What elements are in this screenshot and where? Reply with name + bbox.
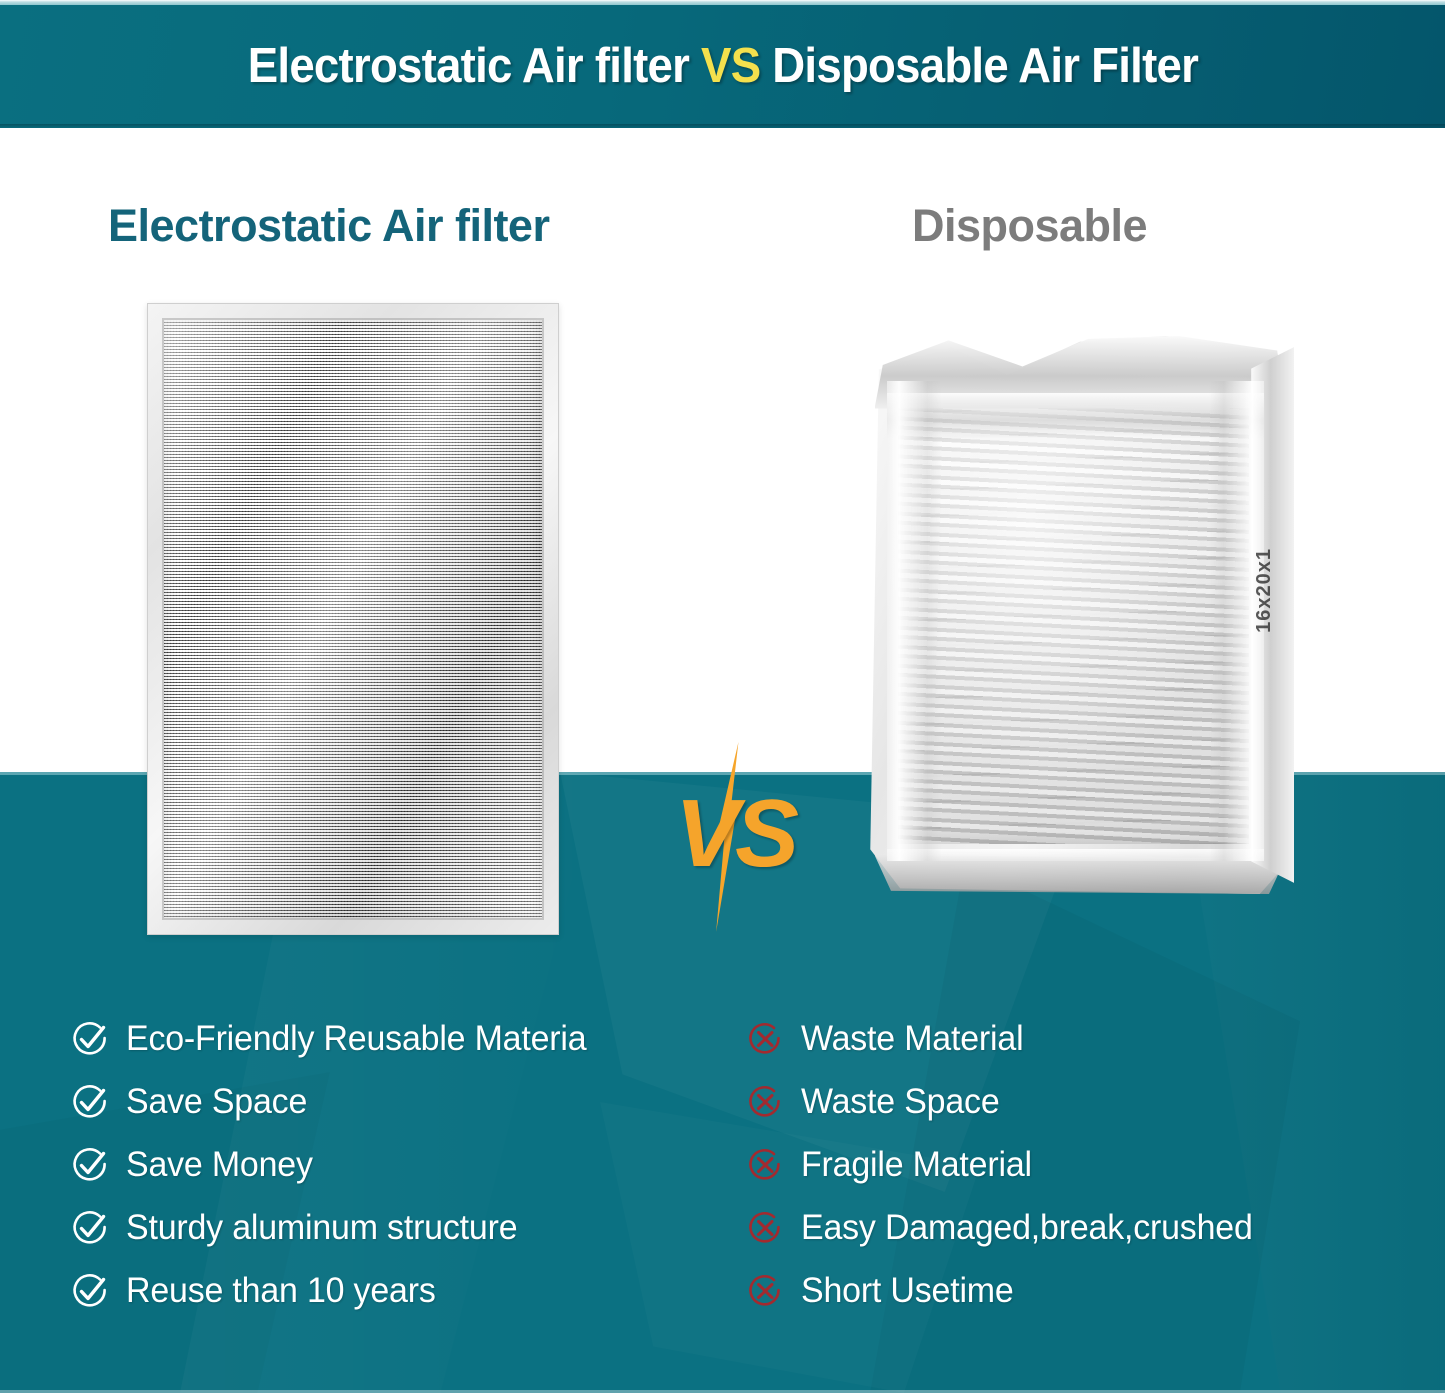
list-item-label: Sturdy aluminum structure bbox=[126, 1208, 517, 1248]
list-item: Save Space bbox=[70, 1070, 730, 1133]
list-item: Sturdy aluminum structure bbox=[70, 1196, 730, 1259]
check-circle-icon bbox=[70, 1271, 126, 1311]
infographic-page: Electrostatic Air filter VS Disposable A… bbox=[0, 0, 1445, 1393]
list-item-label: Easy Damaged,break,crushed bbox=[801, 1208, 1253, 1248]
vs-badge-label: VS bbox=[650, 786, 820, 882]
check-circle-icon bbox=[70, 1019, 126, 1059]
list-item-label: Fragile Material bbox=[801, 1145, 1032, 1185]
list-item-label: Short Usetime bbox=[801, 1271, 1014, 1311]
column-heading-electrostatic: Electrostatic Air filter bbox=[108, 203, 549, 248]
disposable-filter-bottom-fold bbox=[875, 855, 1286, 894]
cross-circle-icon bbox=[745, 1208, 801, 1248]
list-item: Waste Space bbox=[745, 1070, 1405, 1133]
list-item-label: Save Money bbox=[126, 1145, 313, 1185]
list-item: Reuse than 10 years bbox=[70, 1259, 730, 1322]
list-item-label: Waste Space bbox=[801, 1082, 1000, 1122]
list-item-label: Reuse than 10 years bbox=[126, 1271, 436, 1311]
list-item: Fragile Material bbox=[745, 1133, 1405, 1196]
cross-circle-icon bbox=[745, 1271, 801, 1311]
page-title-part2: Disposable Air Filter bbox=[760, 39, 1198, 93]
cons-list: Waste Material Waste Space Fragile Mater… bbox=[745, 1007, 1405, 1322]
filter-mesh-texture bbox=[164, 320, 542, 918]
column-heading-disposable: Disposable bbox=[912, 203, 1147, 248]
check-circle-icon bbox=[70, 1145, 126, 1185]
list-item: Waste Material bbox=[745, 1007, 1405, 1070]
cross-circle-icon bbox=[745, 1145, 801, 1185]
list-item-label: Waste Material bbox=[801, 1019, 1023, 1059]
electrostatic-filter-image bbox=[147, 303, 559, 935]
pros-list: Eco-Friendly Reusable Materia Save Space… bbox=[70, 1007, 730, 1322]
list-item: Easy Damaged,break,crushed bbox=[745, 1196, 1405, 1259]
vs-badge: VS bbox=[650, 742, 820, 932]
list-item-label: Eco-Friendly Reusable Materia bbox=[126, 1019, 586, 1059]
header-banner: Electrostatic Air filter VS Disposable A… bbox=[0, 5, 1445, 128]
list-item: Eco-Friendly Reusable Materia bbox=[70, 1007, 730, 1070]
disposable-filter-top-fold bbox=[875, 336, 1286, 409]
page-title: Electrostatic Air filter VS Disposable A… bbox=[247, 42, 1197, 91]
disposable-filter-image: 16x20x1 bbox=[866, 336, 1294, 894]
check-circle-icon bbox=[70, 1082, 126, 1122]
list-item: Short Usetime bbox=[745, 1259, 1405, 1322]
list-item-label: Save Space bbox=[126, 1082, 307, 1122]
page-title-part1: Electrostatic Air filter bbox=[247, 39, 700, 93]
cross-circle-icon bbox=[745, 1019, 801, 1059]
disposable-filter-fiber-media bbox=[898, 397, 1249, 843]
list-item: Save Money bbox=[70, 1133, 730, 1196]
disposable-filter-size-label: 16x20x1 bbox=[1253, 548, 1276, 633]
check-circle-icon bbox=[70, 1208, 126, 1248]
cross-circle-icon bbox=[745, 1082, 801, 1122]
page-title-vs: VS bbox=[701, 39, 760, 93]
